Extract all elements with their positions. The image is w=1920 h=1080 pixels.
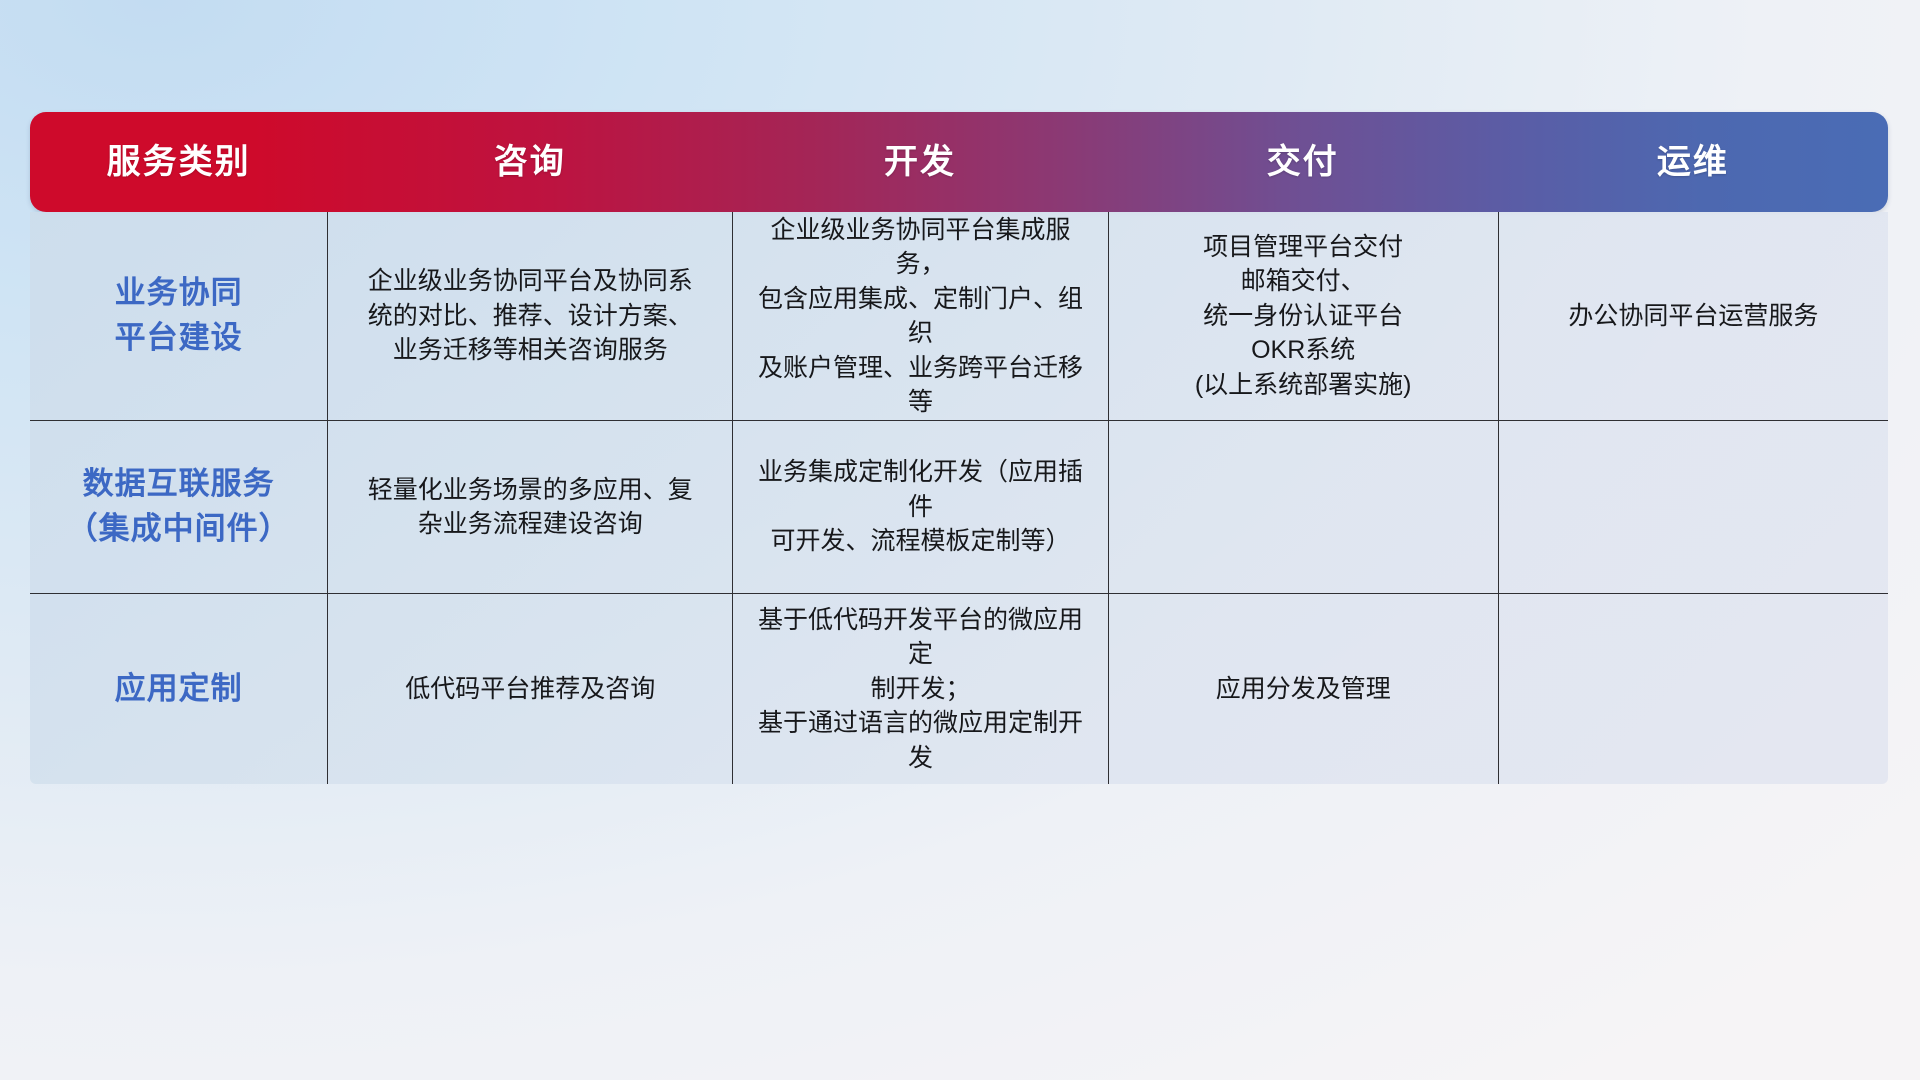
- table-row: 应用定制 低代码平台推荐及咨询 基于低代码开发平台的微应用定 制开发； 基于通过…: [30, 593, 1888, 784]
- cell-development: 基于低代码开发平台的微应用定 制开发； 基于通过语言的微应用定制开发: [732, 594, 1107, 784]
- header-development: 开发: [732, 112, 1107, 212]
- table-header-row: 服务类别 咨询 开发 交付 运维: [30, 112, 1888, 212]
- cell-consulting: 企业级业务协同平台及协同系 统的对比、推荐、设计方案、 业务迁移等相关咨询服务: [327, 212, 732, 420]
- cell-operations: [1498, 594, 1888, 784]
- table-row: 业务协同 平台建设 企业级业务协同平台及协同系 统的对比、推荐、设计方案、 业务…: [30, 212, 1888, 420]
- cell-delivery: 项目管理平台交付 邮箱交付、 统一身份认证平台 OKR系统 (以上系统部署实施): [1108, 212, 1498, 420]
- cell-development: 业务集成定制化开发（应用插件 可开发、流程模板定制等）: [732, 421, 1107, 593]
- cell-consulting: 低代码平台推荐及咨询: [327, 594, 732, 784]
- cell-operations: 办公协同平台运营服务: [1498, 212, 1888, 420]
- cell-operations: [1498, 421, 1888, 593]
- cell-consulting: 轻量化业务场景的多应用、复 杂业务流程建设咨询: [327, 421, 732, 593]
- header-delivery: 交付: [1108, 112, 1498, 212]
- header-operations: 运维: [1498, 112, 1888, 212]
- slide-canvas: 服务类别 咨询 开发 交付 运维 业务协同 平台建设 企业级业务协同平台及协同系…: [0, 0, 1920, 1080]
- cell-delivery: 应用分发及管理: [1108, 594, 1498, 784]
- header-service-category: 服务类别: [30, 112, 327, 212]
- row-category-label: 业务协同 平台建设: [30, 212, 327, 420]
- cell-delivery: [1108, 421, 1498, 593]
- header-consulting: 咨询: [327, 112, 732, 212]
- table-body: 业务协同 平台建设 企业级业务协同平台及协同系 统的对比、推荐、设计方案、 业务…: [30, 212, 1888, 784]
- row-category-label: 应用定制: [30, 594, 327, 784]
- row-category-label: 数据互联服务 （集成中间件）: [30, 421, 327, 593]
- service-matrix-table: 服务类别 咨询 开发 交付 运维 业务协同 平台建设 企业级业务协同平台及协同系…: [30, 112, 1888, 784]
- table-row: 数据互联服务 （集成中间件） 轻量化业务场景的多应用、复 杂业务流程建设咨询 业…: [30, 420, 1888, 593]
- cell-development: 企业级业务协同平台集成服务， 包含应用集成、定制门户、组织 及账户管理、业务跨平…: [732, 212, 1107, 420]
